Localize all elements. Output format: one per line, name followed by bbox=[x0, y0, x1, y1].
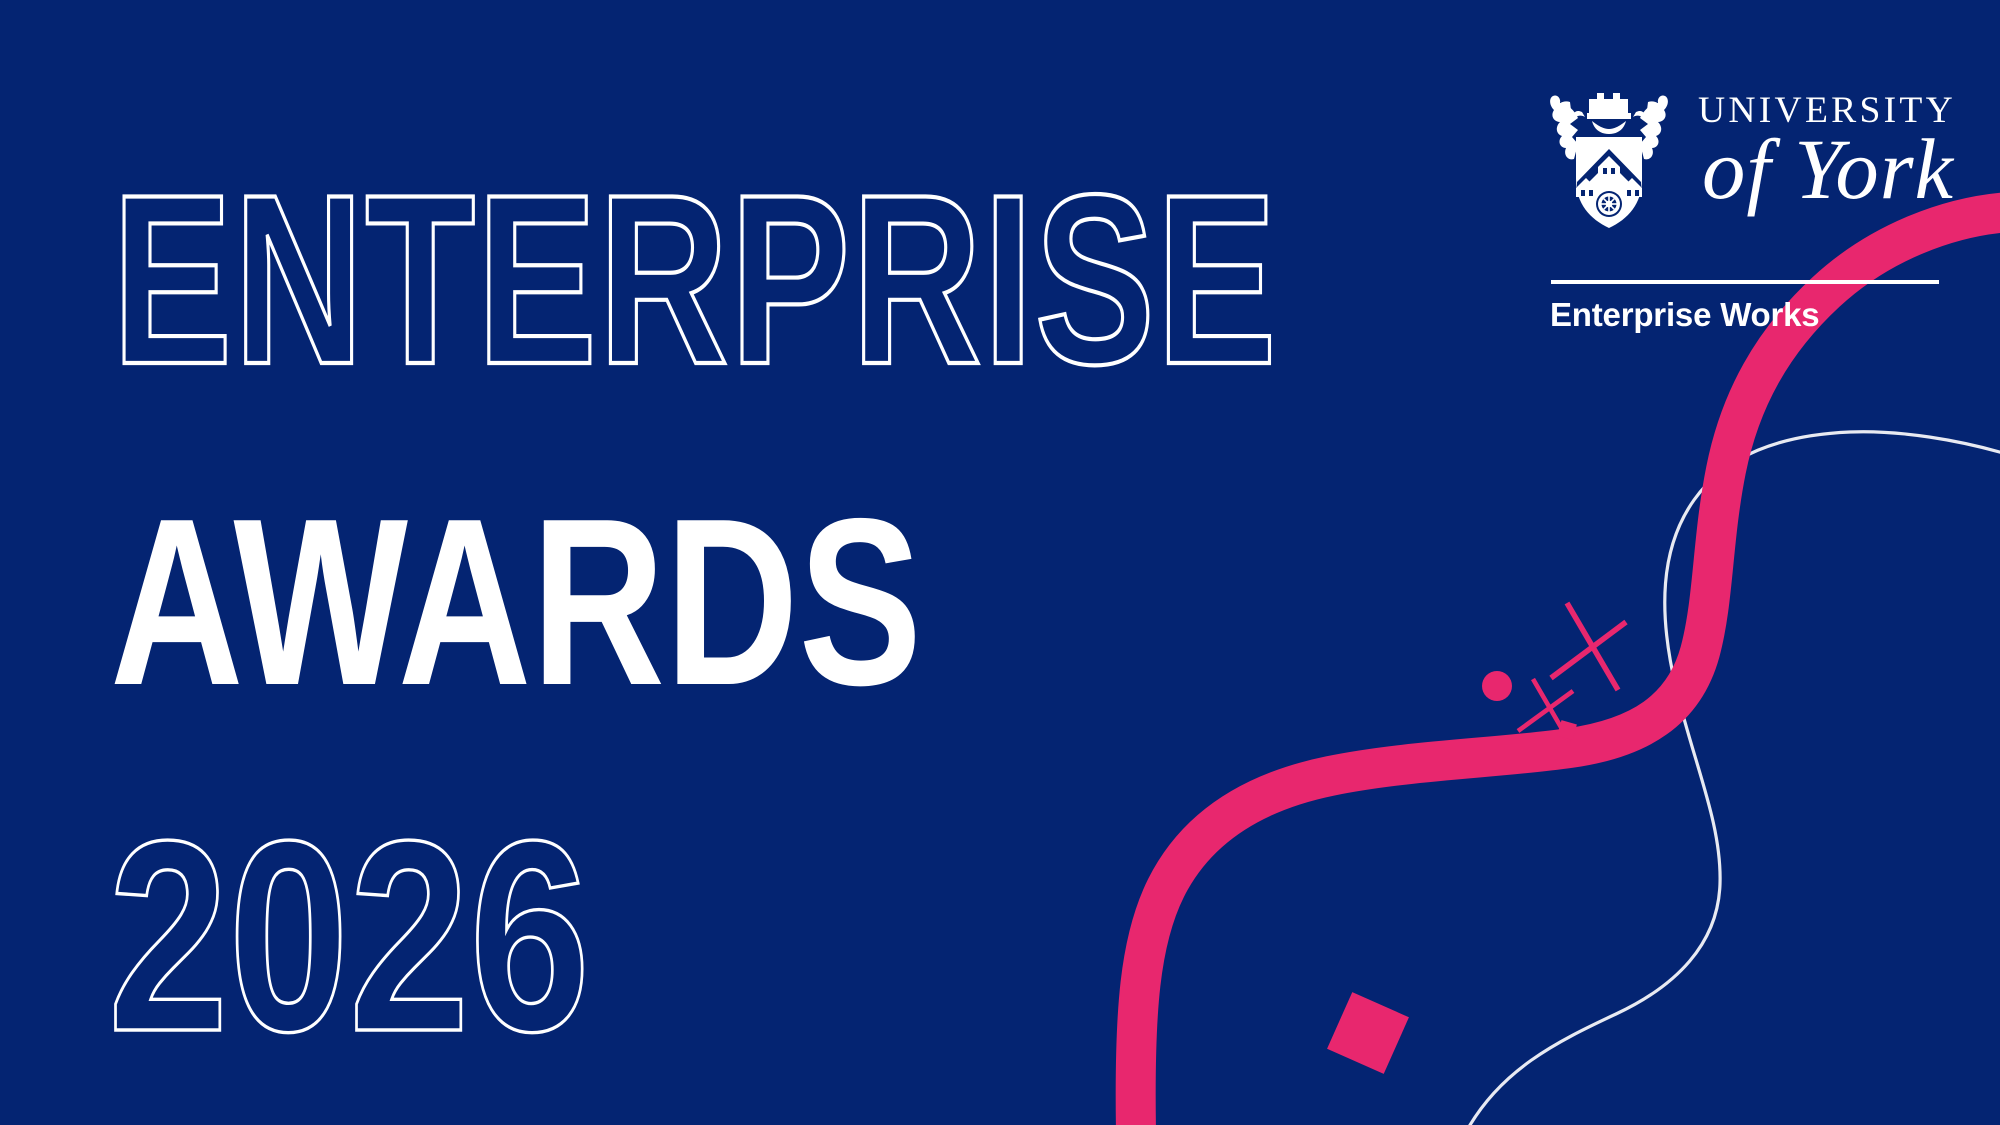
logo-divider-rule bbox=[1551, 280, 1939, 284]
diamond-square-icon bbox=[1327, 992, 1409, 1074]
poster-canvas: ENTERPRISE AWARDS 2026 bbox=[0, 0, 2000, 1125]
headline-line-1-text: ENTERPRISE bbox=[112, 165, 1278, 380]
university-of-york-wordmark: UNIVERSITY of York bbox=[1696, 86, 1964, 234]
dot-icon bbox=[1482, 671, 1512, 701]
university-of-york-enterprise-works-logo: UNIVERSITY of York Enterprise Works bbox=[1548, 82, 1968, 342]
logo-department-label: Enterprise Works bbox=[1550, 296, 1819, 334]
headline-block: ENTERPRISE AWARDS 2026 bbox=[0, 0, 1320, 1125]
x-mark-large-icon bbox=[1551, 603, 1626, 690]
headline-line-3: 2026 bbox=[108, 802, 618, 1047]
headline-line-1: ENTERPRISE bbox=[112, 165, 1282, 380]
university-of-york-crest-icon bbox=[1548, 82, 1670, 232]
headline-line-3-text: 2026 bbox=[108, 802, 590, 1047]
headline-line-2-text: AWARDS bbox=[110, 488, 922, 700]
headline-line-2: AWARDS bbox=[110, 488, 950, 700]
wordmark-of-york: of York bbox=[1702, 121, 1955, 217]
